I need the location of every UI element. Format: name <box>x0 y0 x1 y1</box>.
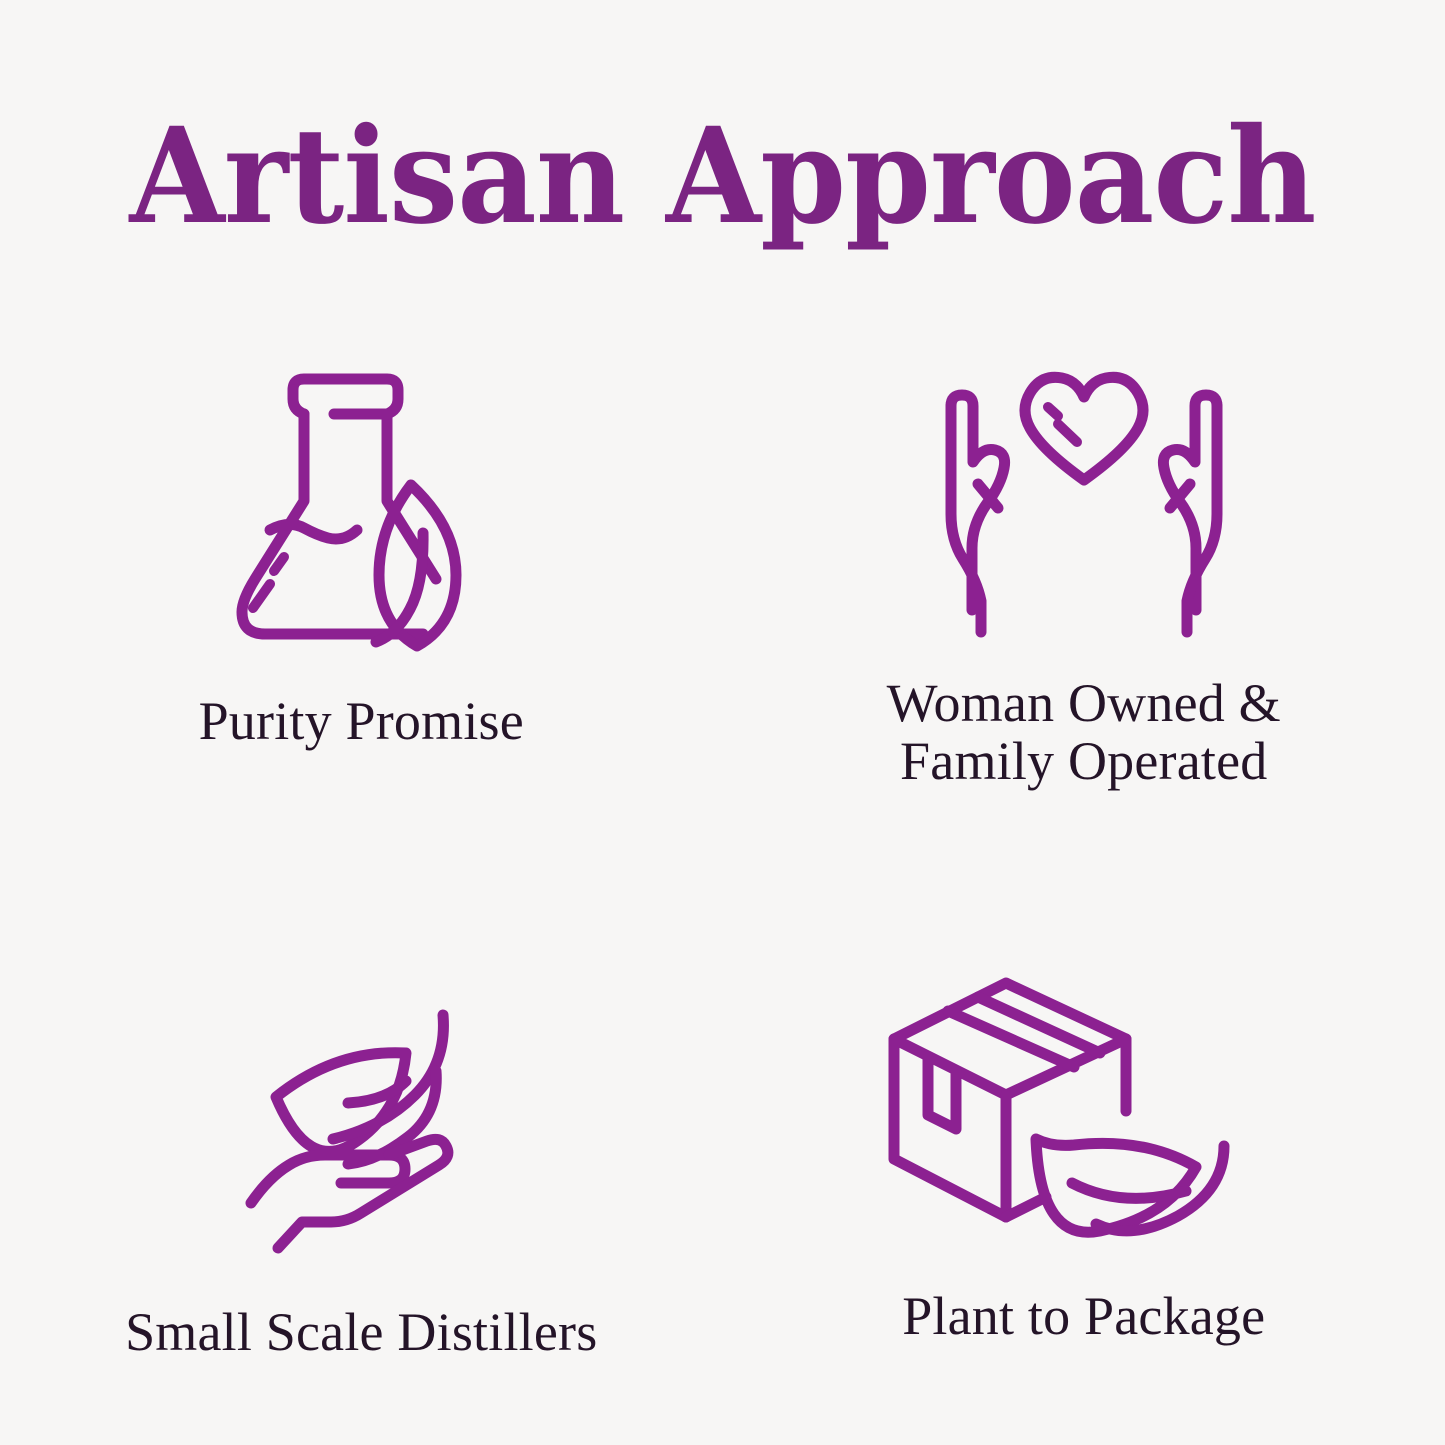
feature-label: Woman Owned & Family Operated <box>887 674 1281 791</box>
feature-label: Small Scale Distillers <box>125 1303 597 1361</box>
feature-grid: Purity Promise <box>0 340 1445 1340</box>
feature-item-purity-promise: Purity Promise <box>0 340 723 791</box>
flask-leaf-icon <box>231 358 491 648</box>
page-title-container: Artisan Approach <box>0 108 1445 247</box>
feature-label: Plant to Package <box>902 1287 1265 1345</box>
hands-holding-heart-icon <box>934 362 1234 632</box>
feature-item-plant-to-package: Plant to Package <box>723 791 1445 1361</box>
hand-holding-leaf-icon <box>236 1001 486 1251</box>
feature-item-woman-owned: Woman Owned & Family Operated <box>723 340 1445 791</box>
feature-label: Purity Promise <box>199 692 524 750</box>
feature-item-small-scale-distillers: Small Scale Distillers <box>0 791 723 1361</box>
page-title: Artisan Approach <box>51 108 1395 247</box>
box-leaf-icon <box>884 971 1284 1241</box>
artisan-approach-panel: Artisan Approach <box>0 0 1445 1445</box>
